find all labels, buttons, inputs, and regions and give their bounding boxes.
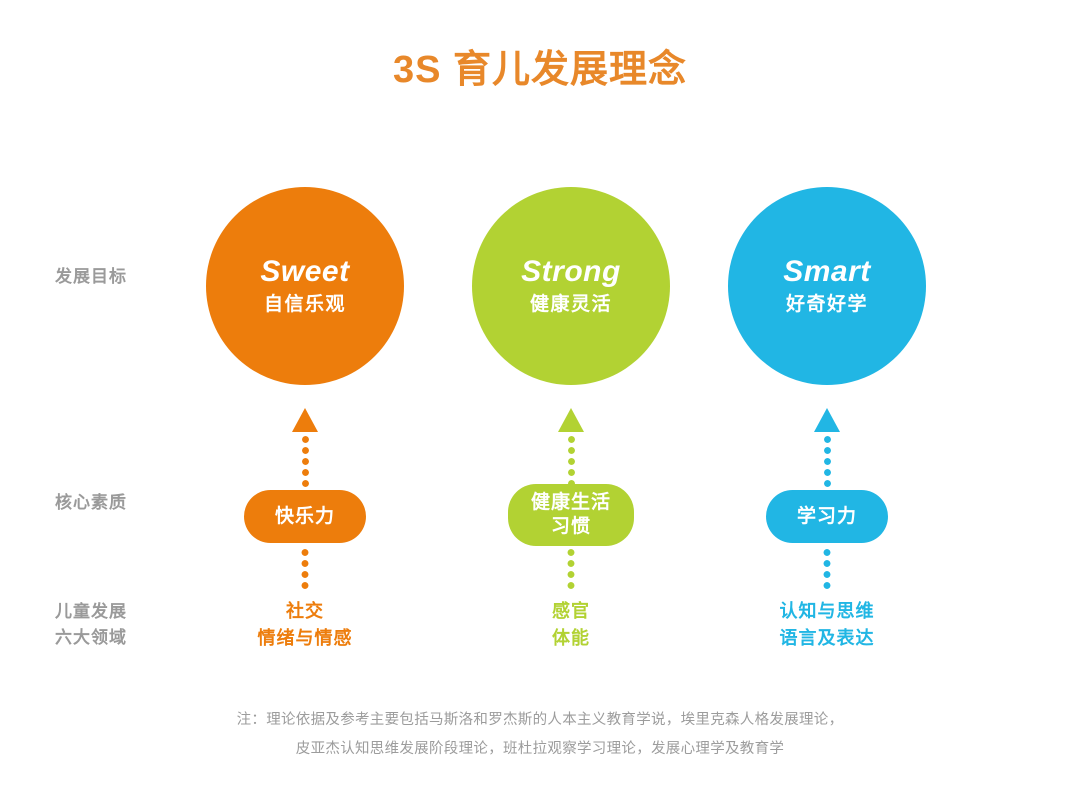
domain-text-strong-line2: 体能 (441, 625, 701, 652)
arrow-up-smart (814, 408, 840, 488)
arrow-head-icon (558, 408, 584, 432)
dotted-line-icon (301, 435, 310, 488)
arrow-head-icon (292, 408, 318, 432)
footnote-line-1: 注：理论依据及参考主要包括马斯洛和罗杰斯的人本主义教育学说，埃里克森人格发展理论… (0, 706, 1080, 735)
domain-text-smart-line2: 语言及表达 (697, 625, 957, 652)
domain-text-strong-line1: 感官 (441, 598, 701, 625)
column-sweet: Sweet 自信乐观 快乐力 社交 情绪与情感 (170, 0, 440, 802)
core-quality-pill-sweet[interactable]: 快乐力 (244, 490, 366, 543)
core-quality-pill-strong[interactable]: 健康生活 习惯 (508, 484, 634, 546)
domain-text-strong: 感官 体能 (441, 598, 701, 652)
footnote-line-2: 皮亚杰认知思维发展阶段理论，班杜拉观察学习理论，发展心理学及教育学 (0, 735, 1080, 764)
goal-circle-sweet[interactable]: Sweet 自信乐观 (206, 187, 404, 385)
core-quality-pill-sweet-line1: 快乐力 (275, 505, 335, 529)
dotted-line-icon-smart-lower (823, 548, 832, 590)
dotted-line-icon (823, 435, 832, 488)
arrow-up-strong (558, 408, 584, 488)
arrow-head-icon (814, 408, 840, 432)
column-smart: Smart 好奇好学 学习力 认知与思维 语言及表达 (692, 0, 962, 802)
footnote: 注：理论依据及参考主要包括马斯洛和罗杰斯的人本主义教育学说，埃里克森人格发展理论… (0, 706, 1080, 764)
goal-circle-sweet-english: Sweet (260, 255, 349, 288)
dotted-line-icon (567, 435, 576, 488)
core-quality-pill-strong-line1: 健康生活 (531, 491, 611, 515)
domain-text-smart-line1: 认知与思维 (697, 598, 957, 625)
domain-text-sweet-line1: 社交 (175, 598, 435, 625)
goal-circle-smart-english: Smart (783, 255, 871, 288)
goal-circle-smart[interactable]: Smart 好奇好学 (728, 187, 926, 385)
dotted-line-icon-sweet-lower (301, 548, 310, 590)
arrow-up-sweet (292, 408, 318, 488)
dotted-line-icon-strong-lower (567, 548, 576, 590)
goal-circle-strong-chinese: 健康灵活 (530, 294, 612, 317)
goal-circle-strong-english: Strong (521, 255, 621, 288)
core-quality-pill-strong-line2: 习惯 (531, 515, 611, 539)
goal-circle-sweet-chinese: 自信乐观 (264, 294, 346, 317)
domain-text-smart: 认知与思维 语言及表达 (697, 598, 957, 652)
domain-text-sweet-line2: 情绪与情感 (175, 625, 435, 652)
goal-circle-smart-chinese: 好奇好学 (786, 294, 868, 317)
core-quality-pill-smart-line1: 学习力 (797, 505, 857, 529)
domain-text-sweet: 社交 情绪与情感 (175, 598, 435, 652)
core-quality-pill-smart[interactable]: 学习力 (766, 490, 888, 543)
goal-circle-strong[interactable]: Strong 健康灵活 (472, 187, 670, 385)
column-strong: Strong 健康灵活 健康生活 习惯 感官 体能 (436, 0, 706, 802)
